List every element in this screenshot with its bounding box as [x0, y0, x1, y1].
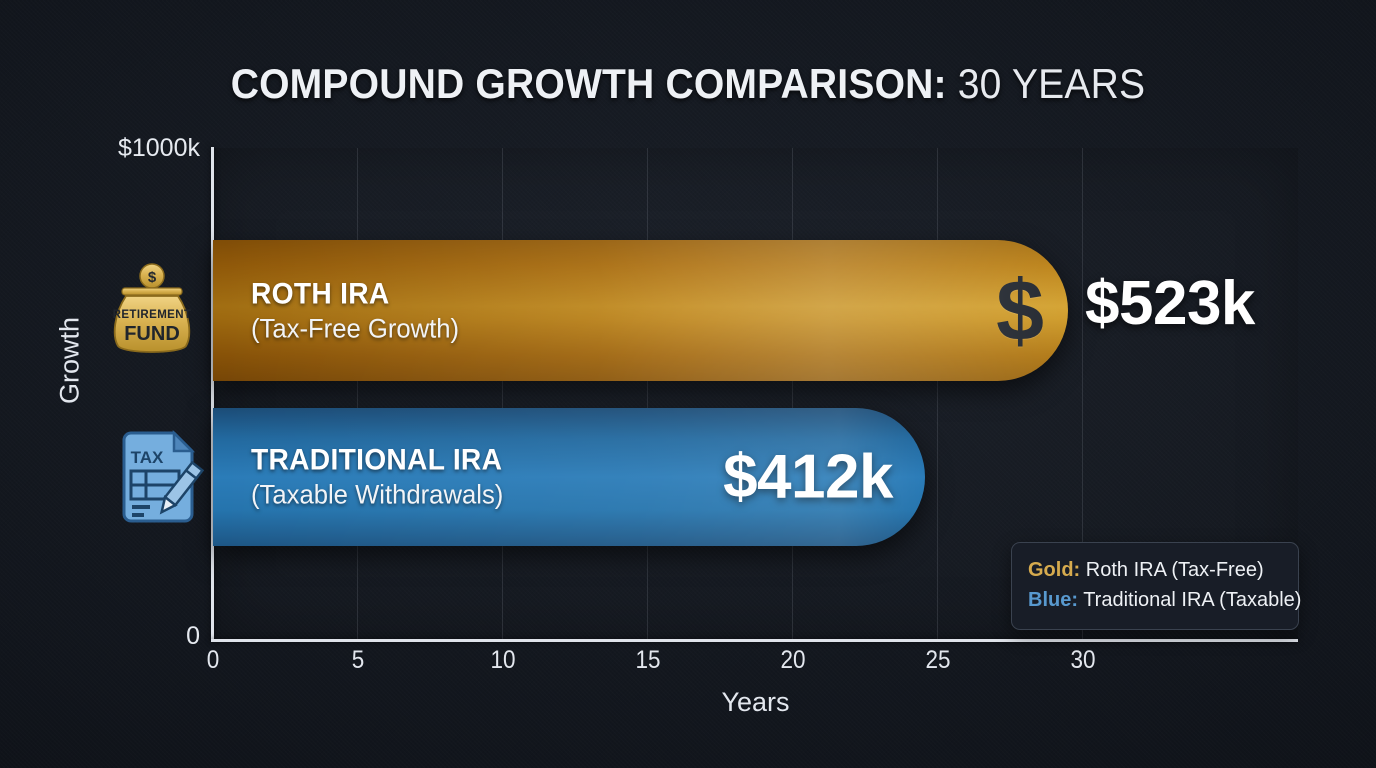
bar-traditional-ira-labels: TRADITIONAL IRA (Taxable Withdrawals) — [251, 444, 518, 511]
dollar-sign-icon: $ — [996, 268, 1044, 354]
bar-traditional-ira-subtitle: (Taxable Withdrawals) — [251, 480, 505, 511]
legend-label-blue: Traditional IRA (Taxable) — [1078, 589, 1301, 611]
bar-roth-ira[interactable]: ROTH IRA (Tax-Free Growth) $ — [213, 240, 1068, 381]
x-axis-tick-5: 5 — [322, 646, 394, 675]
y-axis-label: Growth — [55, 271, 86, 451]
bar-roth-ira-name: ROTH IRA — [251, 277, 457, 311]
x-axis-label: Years — [213, 687, 1298, 718]
bar-traditional-ira-value: $412k — [723, 442, 893, 513]
bar-roth-ira-value: $523k — [1085, 268, 1255, 339]
svg-text:RETIREMENT: RETIREMENT — [113, 309, 192, 321]
y-axis-tick-bottom: 0 — [0, 622, 200, 651]
x-axis-tick-10: 10 — [467, 646, 539, 675]
y-axis-tick-top: $1000k — [0, 134, 200, 163]
legend-label-gold: Roth IRA (Tax-Free) — [1080, 559, 1263, 581]
legend-row-blue: Blue: Traditional IRA (Taxable) — [1028, 586, 1282, 616]
chart-title-main: COMPOUND GROWTH COMPARISON: — [231, 60, 947, 107]
x-axis-tick-0: 0 — [177, 646, 249, 675]
gridline-year-20 — [792, 148, 793, 640]
gridline-year-25 — [937, 148, 938, 640]
gridline-year-5 — [357, 148, 358, 640]
x-axis-tick-30: 30 — [1047, 646, 1119, 675]
svg-text:TAX: TAX — [131, 448, 164, 467]
bar-roth-ira-subtitle: (Tax-Free Growth) — [251, 313, 459, 344]
legend-key-blue: Blue: — [1028, 589, 1078, 611]
money-bag-icon: $ RETIREMENT FUND — [100, 262, 204, 358]
gridline-year-10b — [502, 148, 503, 640]
svg-text:$: $ — [148, 269, 157, 286]
x-axis-spine — [211, 639, 1298, 642]
legend-row-gold: Gold: Roth IRA (Tax-Free) — [1028, 556, 1282, 586]
legend-key-gold: Gold: — [1028, 559, 1080, 581]
svg-text:FUND: FUND — [124, 323, 180, 345]
bar-roth-ira-labels: ROTH IRA (Tax-Free Growth) — [251, 277, 470, 344]
gridline-year-15 — [647, 148, 648, 640]
y-axis-spine — [211, 147, 214, 641]
chart-canvas: COMPOUND GROWTH COMPARISON: 30 YEARS $10… — [0, 0, 1376, 768]
bar-traditional-ira[interactable]: TRADITIONAL IRA (Taxable Withdrawals) $4… — [213, 408, 925, 546]
x-axis-tick-20: 20 — [757, 646, 829, 675]
legend: Gold: Roth IRA (Tax-Free) Blue: Traditio… — [1011, 542, 1299, 630]
x-axis-tick-15: 15 — [612, 646, 684, 675]
tax-document-icon: TAX — [116, 430, 204, 530]
chart-title-accent: 30 YEARS — [958, 60, 1146, 107]
bar-traditional-ira-name: TRADITIONAL IRA — [251, 444, 502, 478]
chart-title: COMPOUND GROWTH COMPARISON: 30 YEARS — [48, 60, 1328, 108]
x-axis-tick-25: 25 — [902, 646, 974, 675]
